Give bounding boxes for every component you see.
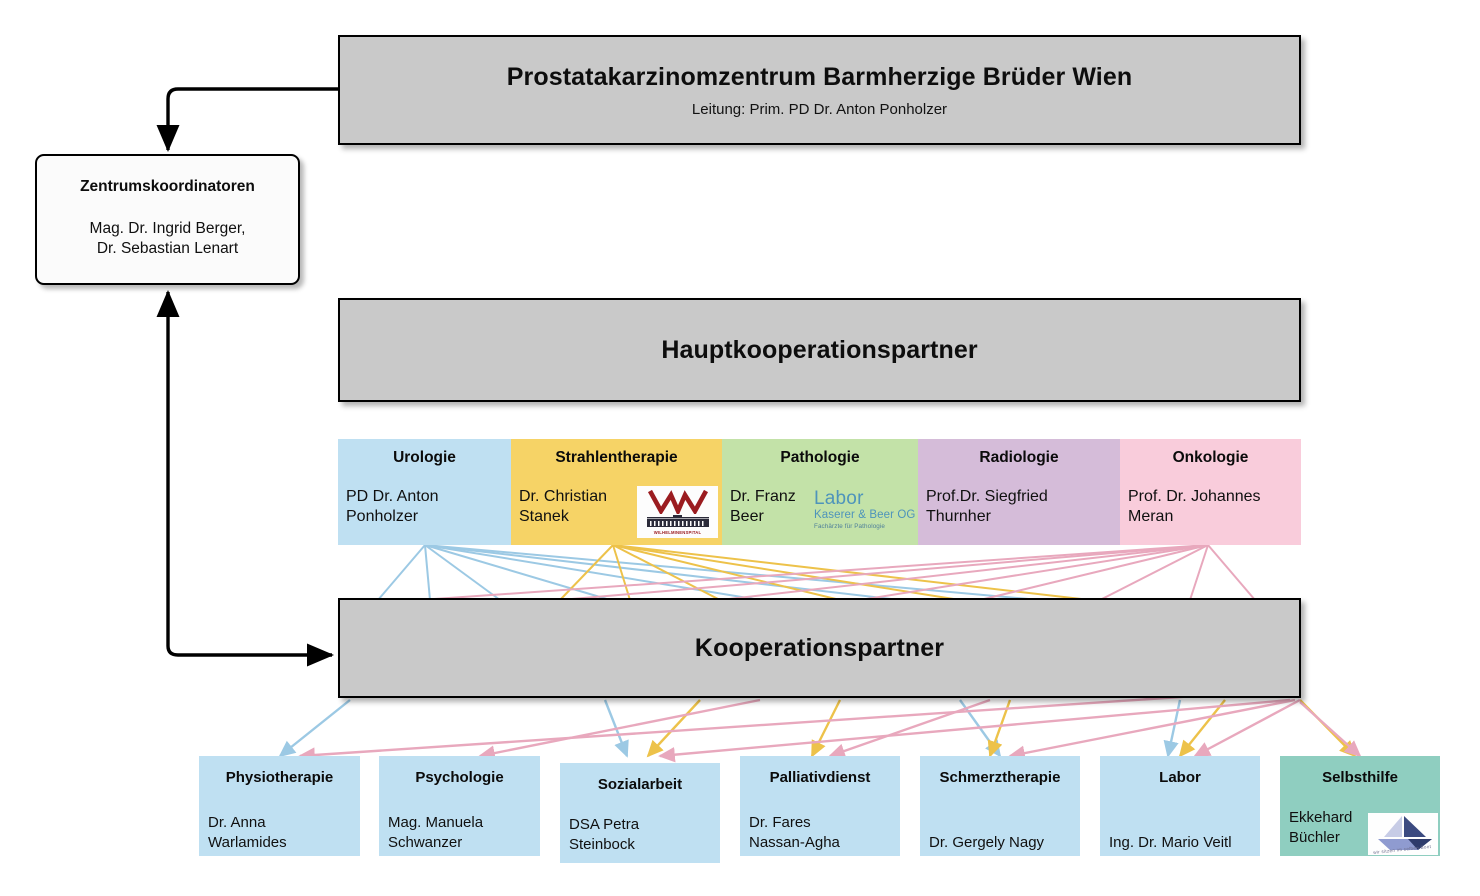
department-person: PD Dr. Anton Ponholzer: [346, 487, 439, 527]
department-name: Urologie: [338, 449, 511, 467]
partner-psychologie[interactable]: Psychologie Mag. Manuela Schwanzer: [379, 756, 540, 856]
coordinators-names: Mag. Dr. Ingrid Berger, Dr. Sebastian Le…: [90, 219, 246, 260]
department-onkologie[interactable]: Onkologie Prof. Dr. Johannes Meran: [1120, 439, 1301, 545]
labor-logo-line1: Labor: [814, 489, 926, 508]
partner-person: Ing. Dr. Mario Veitl: [1109, 833, 1232, 853]
partner-schmerztherapie[interactable]: Schmerztherapie Dr. Gergely Nagy: [920, 756, 1080, 856]
department-urologie[interactable]: Urologie PD Dr. Anton Ponholzer: [338, 439, 511, 545]
arrow-coordinators-to-partners-band: [168, 646, 332, 655]
partner-person: DSA Petra Steinbock: [569, 815, 639, 854]
department-name: Onkologie: [1120, 449, 1301, 467]
partner-person: Dr. Gergely Nagy: [929, 833, 1044, 853]
partner-physiotherapie[interactable]: Physiotherapie Dr. Anna Warlamides: [199, 756, 360, 856]
partner-person: Ekkehard Büchler: [1289, 808, 1352, 847]
department-person: Prof. Dr. Johannes Meran: [1128, 487, 1261, 527]
main-partners-band: Hauptkooperationspartner: [338, 298, 1301, 402]
arrows-pink-to-partners: [300, 690, 1360, 756]
arrows-gold-to-partners: [648, 700, 1355, 756]
partner-person: Dr. Anna Warlamides: [208, 813, 287, 852]
center-subtitle: Leitung: Prim. PD Dr. Anton Ponholzer: [692, 101, 947, 118]
department-strahlentherapie[interactable]: Strahlentherapie Dr. Christian Stanek: [511, 439, 722, 545]
partner-person: Mag. Manuela Schwanzer: [388, 813, 483, 852]
labor-logo-line2: Kaserer & Beer OG: [814, 510, 926, 522]
partner-person: Dr. Fares Nassan-Agha: [749, 813, 840, 852]
selbsthilfe-boat-logo: wir sitzen im selben Boot: [1368, 813, 1438, 855]
department-person: Dr. Franz Beer: [730, 487, 796, 527]
partner-sozialarbeit[interactable]: Sozialarbeit DSA Petra Steinbock: [560, 763, 720, 863]
partner-name: Physiotherapie: [199, 756, 360, 786]
partner-name: Palliativdienst: [740, 756, 900, 786]
arrows-blue-to-partners: [280, 700, 1180, 756]
partners-label: Kooperationspartner: [695, 634, 944, 663]
wilhelminenspital-w-icon: [647, 489, 709, 514]
department-name: Pathologie: [722, 449, 918, 467]
fan-strahlentherapie: [560, 545, 1090, 600]
department-person: Prof.Dr. Siegfried Thurnher: [926, 487, 1048, 527]
center-title-box: Prostatakarzinomzentrum Barmherzige Brüd…: [338, 35, 1301, 145]
main-partners-label: Hauptkooperationspartner: [661, 336, 977, 365]
department-name: Strahlentherapie: [511, 449, 722, 467]
labor-kaserer-logo: Labor Kaserer & Beer OG Fachärzte für Pa…: [814, 489, 926, 530]
partner-name: Schmerztherapie: [920, 756, 1080, 786]
coordinators-box: Zentrumskoordinatoren Mag. Dr. Ingrid Be…: [35, 154, 300, 285]
wilhelminenspital-caption: WILHELMINENSPITAL: [654, 530, 702, 535]
arrow-title-to-coordinators: [168, 89, 338, 150]
labor-logo-line3: Fachärzte für Pathologie: [814, 524, 926, 530]
org-chart-canvas: Prostatakarzinomzentrum Barmherzige Brüd…: [0, 0, 1480, 896]
fan-onkologie: [420, 545, 1255, 600]
partner-name: Labor: [1100, 756, 1260, 786]
wilhelminenspital-logo: WILHELMINENSPITAL: [637, 486, 718, 538]
department-name: Radiologie: [918, 449, 1120, 467]
coordinators-heading: Zentrumskoordinatoren: [80, 178, 255, 196]
partners-band: Kooperationspartner: [338, 598, 1301, 698]
partner-labor[interactable]: Labor Ing. Dr. Mario Veitl: [1100, 756, 1260, 856]
partner-name: Selbsthilfe: [1280, 756, 1440, 786]
department-person: Dr. Christian Stanek: [519, 487, 607, 527]
department-pathologie[interactable]: Pathologie Dr. Franz Beer Labor Kaserer …: [722, 439, 918, 545]
department-radiologie[interactable]: Radiologie Prof.Dr. Siegfried Thurnher: [918, 439, 1120, 545]
partner-name: Psychologie: [379, 756, 540, 786]
center-title: Prostatakarzinomzentrum Barmherzige Brüd…: [507, 63, 1132, 92]
partner-name: Sozialarbeit: [560, 763, 720, 793]
wilhelminenspital-building-icon: [643, 515, 713, 529]
fan-urologie: [378, 545, 1040, 600]
partner-selbsthilfe[interactable]: Selbsthilfe Ekkehard Büchler wir sitzen …: [1280, 756, 1440, 856]
partner-palliativdienst[interactable]: Palliativdienst Dr. Fares Nassan-Agha: [740, 756, 900, 856]
